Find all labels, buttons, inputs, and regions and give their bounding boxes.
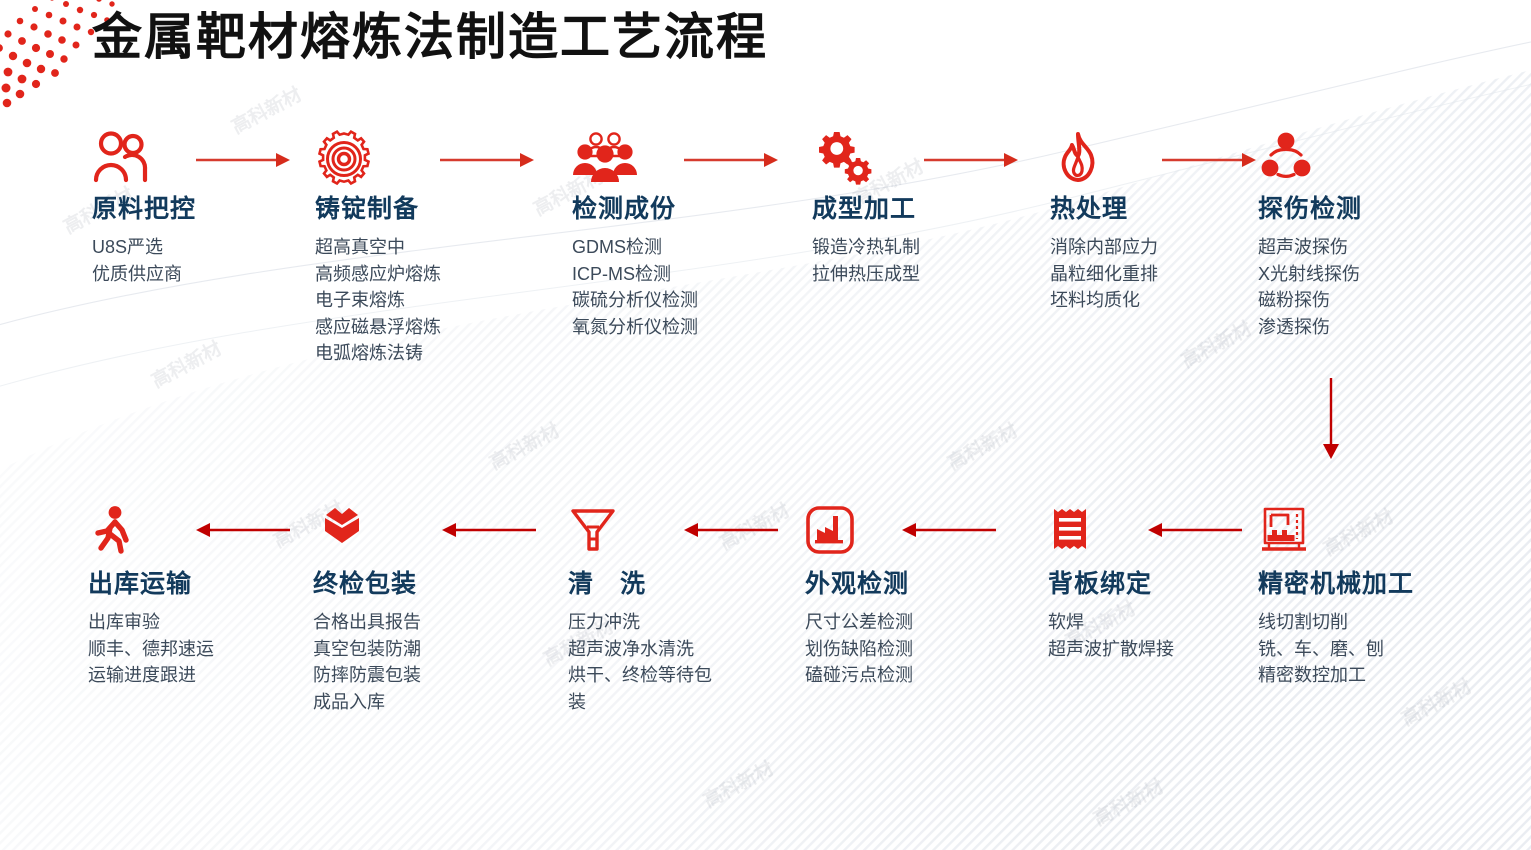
- factory-badge-icon: [805, 505, 1005, 563]
- step-item: 成品入库: [313, 689, 513, 716]
- step-item: 软焊: [1048, 609, 1248, 636]
- page-title: 金属靶材熔炼法制造工艺流程: [92, 4, 768, 70]
- step-item: 压力冲洗: [568, 609, 743, 636]
- step-item: 消除内部应力: [1050, 234, 1250, 261]
- two-people-icon: [92, 130, 292, 188]
- step-item: 优质供应商: [92, 261, 292, 288]
- watermark: 高科新材: [1088, 772, 1168, 832]
- step-items: 超声波探伤 X光射线探伤 磁粉探伤 渗透探伤: [1258, 234, 1458, 340]
- step-item: 超声波探伤: [1258, 234, 1458, 261]
- step-item: 尺寸公差检测: [805, 609, 1005, 636]
- step-cleaning[interactable]: 清 洗 压力冲洗 超声波净水清洗 烘干、终检等待包装: [568, 505, 743, 715]
- step-heading: 终检包装: [313, 569, 513, 599]
- step-item: 电子束熔炼: [315, 287, 530, 314]
- background-wave-pattern: [0, 0, 1531, 850]
- step-item: 合格出具报告: [313, 609, 513, 636]
- step-heading: 原料把控: [92, 194, 292, 224]
- open-box-icon: [313, 505, 513, 563]
- gear-target-icon: [315, 130, 530, 188]
- step-heading: 出库运输: [88, 569, 288, 599]
- step-item: 渗透探伤: [1258, 314, 1458, 341]
- bonded-plate-icon: [1048, 505, 1248, 563]
- watermark: 高科新材: [1176, 314, 1256, 374]
- step-forming-processing[interactable]: 成型加工 锻造冷热轧制 拉伸热压成型: [812, 130, 1012, 287]
- step-heading: 外观检测: [805, 569, 1005, 599]
- step-items: 压力冲洗 超声波净水清洗 烘干、终检等待包装: [568, 609, 743, 715]
- step-item: U8S严选: [92, 234, 292, 261]
- step-final-inspection-packaging[interactable]: 终检包装 合格出具报告 真空包装防潮 防摔防震包装 成品入库: [313, 505, 513, 715]
- step-ingot-preparation[interactable]: 铸锭制备 超高真空中 高频感应炉熔炼 电子束熔炼 感应磁悬浮熔炼 电弧熔炼法铸: [315, 130, 530, 367]
- step-item: 精密数控加工: [1258, 662, 1468, 689]
- step-item: 超声波净水清洗: [568, 636, 743, 663]
- watermark: 高科新材: [484, 416, 564, 476]
- step-item: 磁粉探伤: [1258, 287, 1458, 314]
- step-item: 防摔防震包装: [313, 662, 513, 689]
- step-item: ICP-MS检测: [572, 261, 787, 288]
- step-item: 高频感应炉熔炼: [315, 261, 530, 288]
- step-item: 真空包装防潮: [313, 636, 513, 663]
- step-item: GDMS检测: [572, 234, 787, 261]
- step-items: 尺寸公差检测 划伤缺陷检测 磕碰污点检测: [805, 609, 1005, 689]
- step-heat-treatment[interactable]: 热处理 消除内部应力 晶粒细化重排 坯料均质化: [1050, 130, 1250, 314]
- step-item: 烘干、终检等待包装: [568, 662, 726, 715]
- step-heading: 背板绑定: [1048, 569, 1248, 599]
- step-raw-material-control[interactable]: 原料把控 U8S严选 优质供应商: [92, 130, 292, 287]
- step-item: 坯料均质化: [1050, 287, 1250, 314]
- step-item: 超高真空中: [315, 234, 530, 261]
- step-item: 铣、车、磨、刨: [1258, 636, 1468, 663]
- step-items: GDMS检测 ICP-MS检测 碳硫分析仪检测 氧氮分析仪检测: [572, 234, 787, 340]
- step-outbound-transport[interactable]: 出库运输 出库审验 顺丰、德邦速运 运输进度跟进: [88, 505, 288, 689]
- step-items: U8S严选 优质供应商: [92, 234, 292, 287]
- step-precision-machining[interactable]: 精密机械加工 线切割切削 铣、车、磨、刨 精密数控加工: [1258, 505, 1468, 689]
- step-item: 电弧熔炼法铸: [315, 340, 530, 367]
- step-items: 线切割切削 铣、车、磨、刨 精密数控加工: [1258, 609, 1468, 689]
- step-heading: 探伤检测: [1258, 194, 1458, 224]
- step-items: 消除内部应力 晶粒细化重排 坯料均质化: [1050, 234, 1250, 314]
- step-item: 晶粒细化重排: [1050, 261, 1250, 288]
- step-item: 超声波扩散焊接: [1048, 636, 1248, 663]
- two-gears-icon: [812, 130, 1012, 188]
- step-item: 碳硫分析仪检测: [572, 287, 787, 314]
- step-heading: 铸锭制备: [315, 194, 530, 224]
- step-item: 磕碰污点检测: [805, 662, 1005, 689]
- walking-person-icon: [88, 505, 288, 563]
- step-item: 感应磁悬浮熔炼: [315, 314, 530, 341]
- step-item: 锻造冷热轧制: [812, 234, 1012, 261]
- step-backplate-bonding[interactable]: 背板绑定 软焊 超声波扩散焊接: [1048, 505, 1248, 662]
- step-composition-testing[interactable]: 检测成份 GDMS检测 ICP-MS检测 碳硫分析仪检测 氧氮分析仪检测: [572, 130, 787, 340]
- step-items: 锻造冷热轧制 拉伸热压成型: [812, 234, 1012, 287]
- flow-diagram-canvas: 高科新材 高科新材 高科新材 高科新材 高科新材 高科新材 高科新材 高科新材 …: [0, 0, 1531, 850]
- step-item: 出库审验: [88, 609, 288, 636]
- step-flaw-detection[interactable]: 探伤检测 超声波探伤 X光射线探伤 磁粉探伤 渗透探伤: [1258, 130, 1458, 340]
- step-item: 氧氮分析仪检测: [572, 314, 787, 341]
- step-item: 线切割切削: [1258, 609, 1468, 636]
- step-items: 超高真空中 高频感应炉熔炼 电子束熔炼 感应磁悬浮熔炼 电弧熔炼法铸: [315, 234, 530, 367]
- step-items: 软焊 超声波扩散焊接: [1048, 609, 1248, 662]
- flame-icon: [1050, 130, 1250, 188]
- funnel-icon: [568, 505, 743, 563]
- watermark: 高科新材: [698, 754, 778, 814]
- step-item: X光射线探伤: [1258, 261, 1458, 288]
- step-item: 拉伸热压成型: [812, 261, 1012, 288]
- step-heading: 成型加工: [812, 194, 1012, 224]
- step-heading: 热处理: [1050, 194, 1250, 224]
- step-items: 出库审验 顺丰、德邦速运 运输进度跟进: [88, 609, 288, 689]
- cnc-machine-icon: [1258, 505, 1468, 563]
- three-node-share-icon: [1258, 130, 1458, 188]
- watermark: 高科新材: [942, 416, 1022, 476]
- step-item: 顺丰、德邦速运: [88, 636, 288, 663]
- step-items: 合格出具报告 真空包装防潮 防摔防震包装 成品入库: [313, 609, 513, 715]
- step-heading: 检测成份: [572, 194, 787, 224]
- step-item: 运输进度跟进: [88, 662, 288, 689]
- watermark: 高科新材: [146, 334, 226, 394]
- flow-arrow-down: [1320, 378, 1342, 460]
- step-item: 划伤缺陷检测: [805, 636, 1005, 663]
- step-appearance-inspection[interactable]: 外观检测 尺寸公差检测 划伤缺陷检测 磕碰污点检测: [805, 505, 1005, 689]
- step-heading: 清 洗: [568, 569, 743, 599]
- people-group-icon: [572, 130, 787, 188]
- step-heading: 精密机械加工: [1258, 569, 1468, 599]
